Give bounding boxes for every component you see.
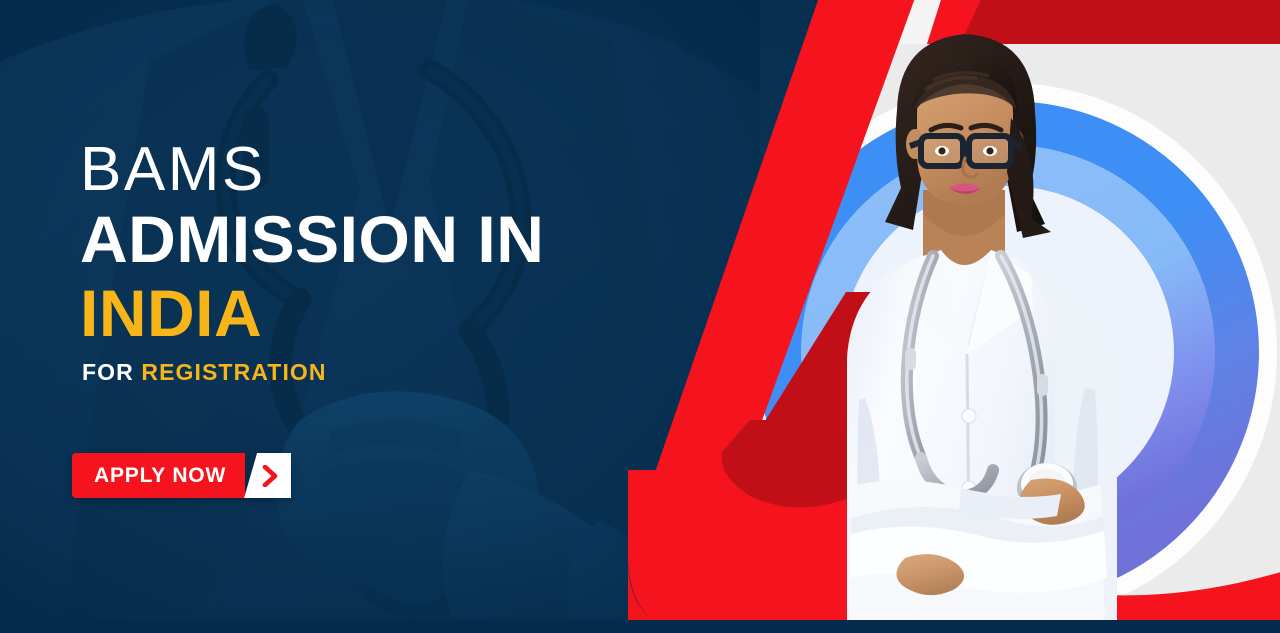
headline-line-2: ADMISSION IN	[80, 205, 680, 275]
apply-now-button[interactable]: APPLY NOW	[72, 453, 291, 498]
bottom-strip	[0, 620, 1280, 633]
subtitle-prefix: FOR	[82, 359, 134, 385]
bams-admission-banner: BAMS ADMISSION IN INDIA FOR REGISTRATION…	[0, 0, 1280, 633]
headline-line-3: INDIA	[80, 279, 680, 349]
headline-block: BAMS ADMISSION IN INDIA FOR REGISTRATION	[80, 140, 680, 386]
apply-now-label[interactable]: APPLY NOW	[72, 453, 245, 498]
chevron-right-icon[interactable]	[244, 453, 291, 498]
subtitle: FOR REGISTRATION	[82, 359, 680, 386]
headline-line-1: BAMS	[80, 140, 680, 201]
subtitle-highlight: REGISTRATION	[141, 359, 326, 385]
female-doctor-photo-icon	[755, 18, 1175, 620]
